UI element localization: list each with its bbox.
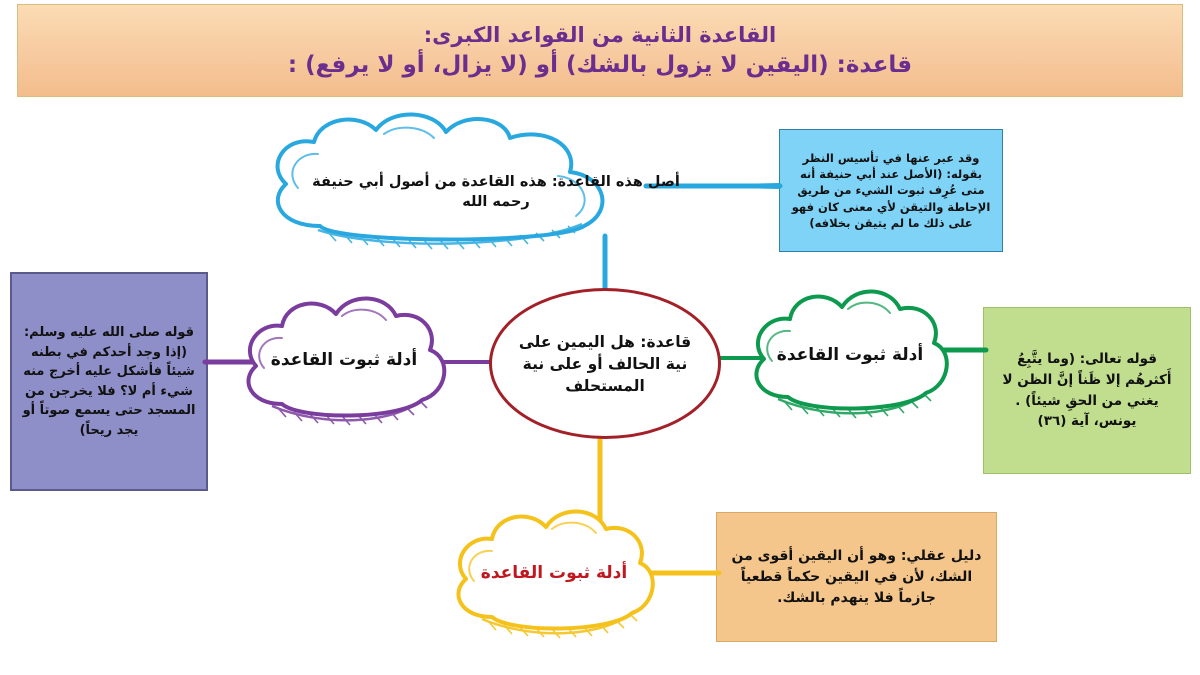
cloud-evidence-bottom: أدلة ثبوت القاعدة bbox=[448, 503, 660, 653]
central-rule-label: قاعدة: هل اليمين على نية الحالف أو على ن… bbox=[508, 331, 702, 397]
cloud-evidence-left: أدلة ثبوت القاعدة bbox=[238, 288, 450, 438]
central-rule-node: قاعدة: هل اليمين على نية الحالف أو على ن… bbox=[489, 288, 721, 439]
diagram-canvas: القاعدة الثانية من القواعد الكبرى: قاعدة… bbox=[0, 0, 1200, 675]
cloud-origin-of-rule: أصل هذه القاعدة: هذه القاعدة من أصول أبي… bbox=[258, 114, 650, 262]
cloud-evidence-right: أدلة ثبوت القاعدة bbox=[746, 283, 954, 433]
